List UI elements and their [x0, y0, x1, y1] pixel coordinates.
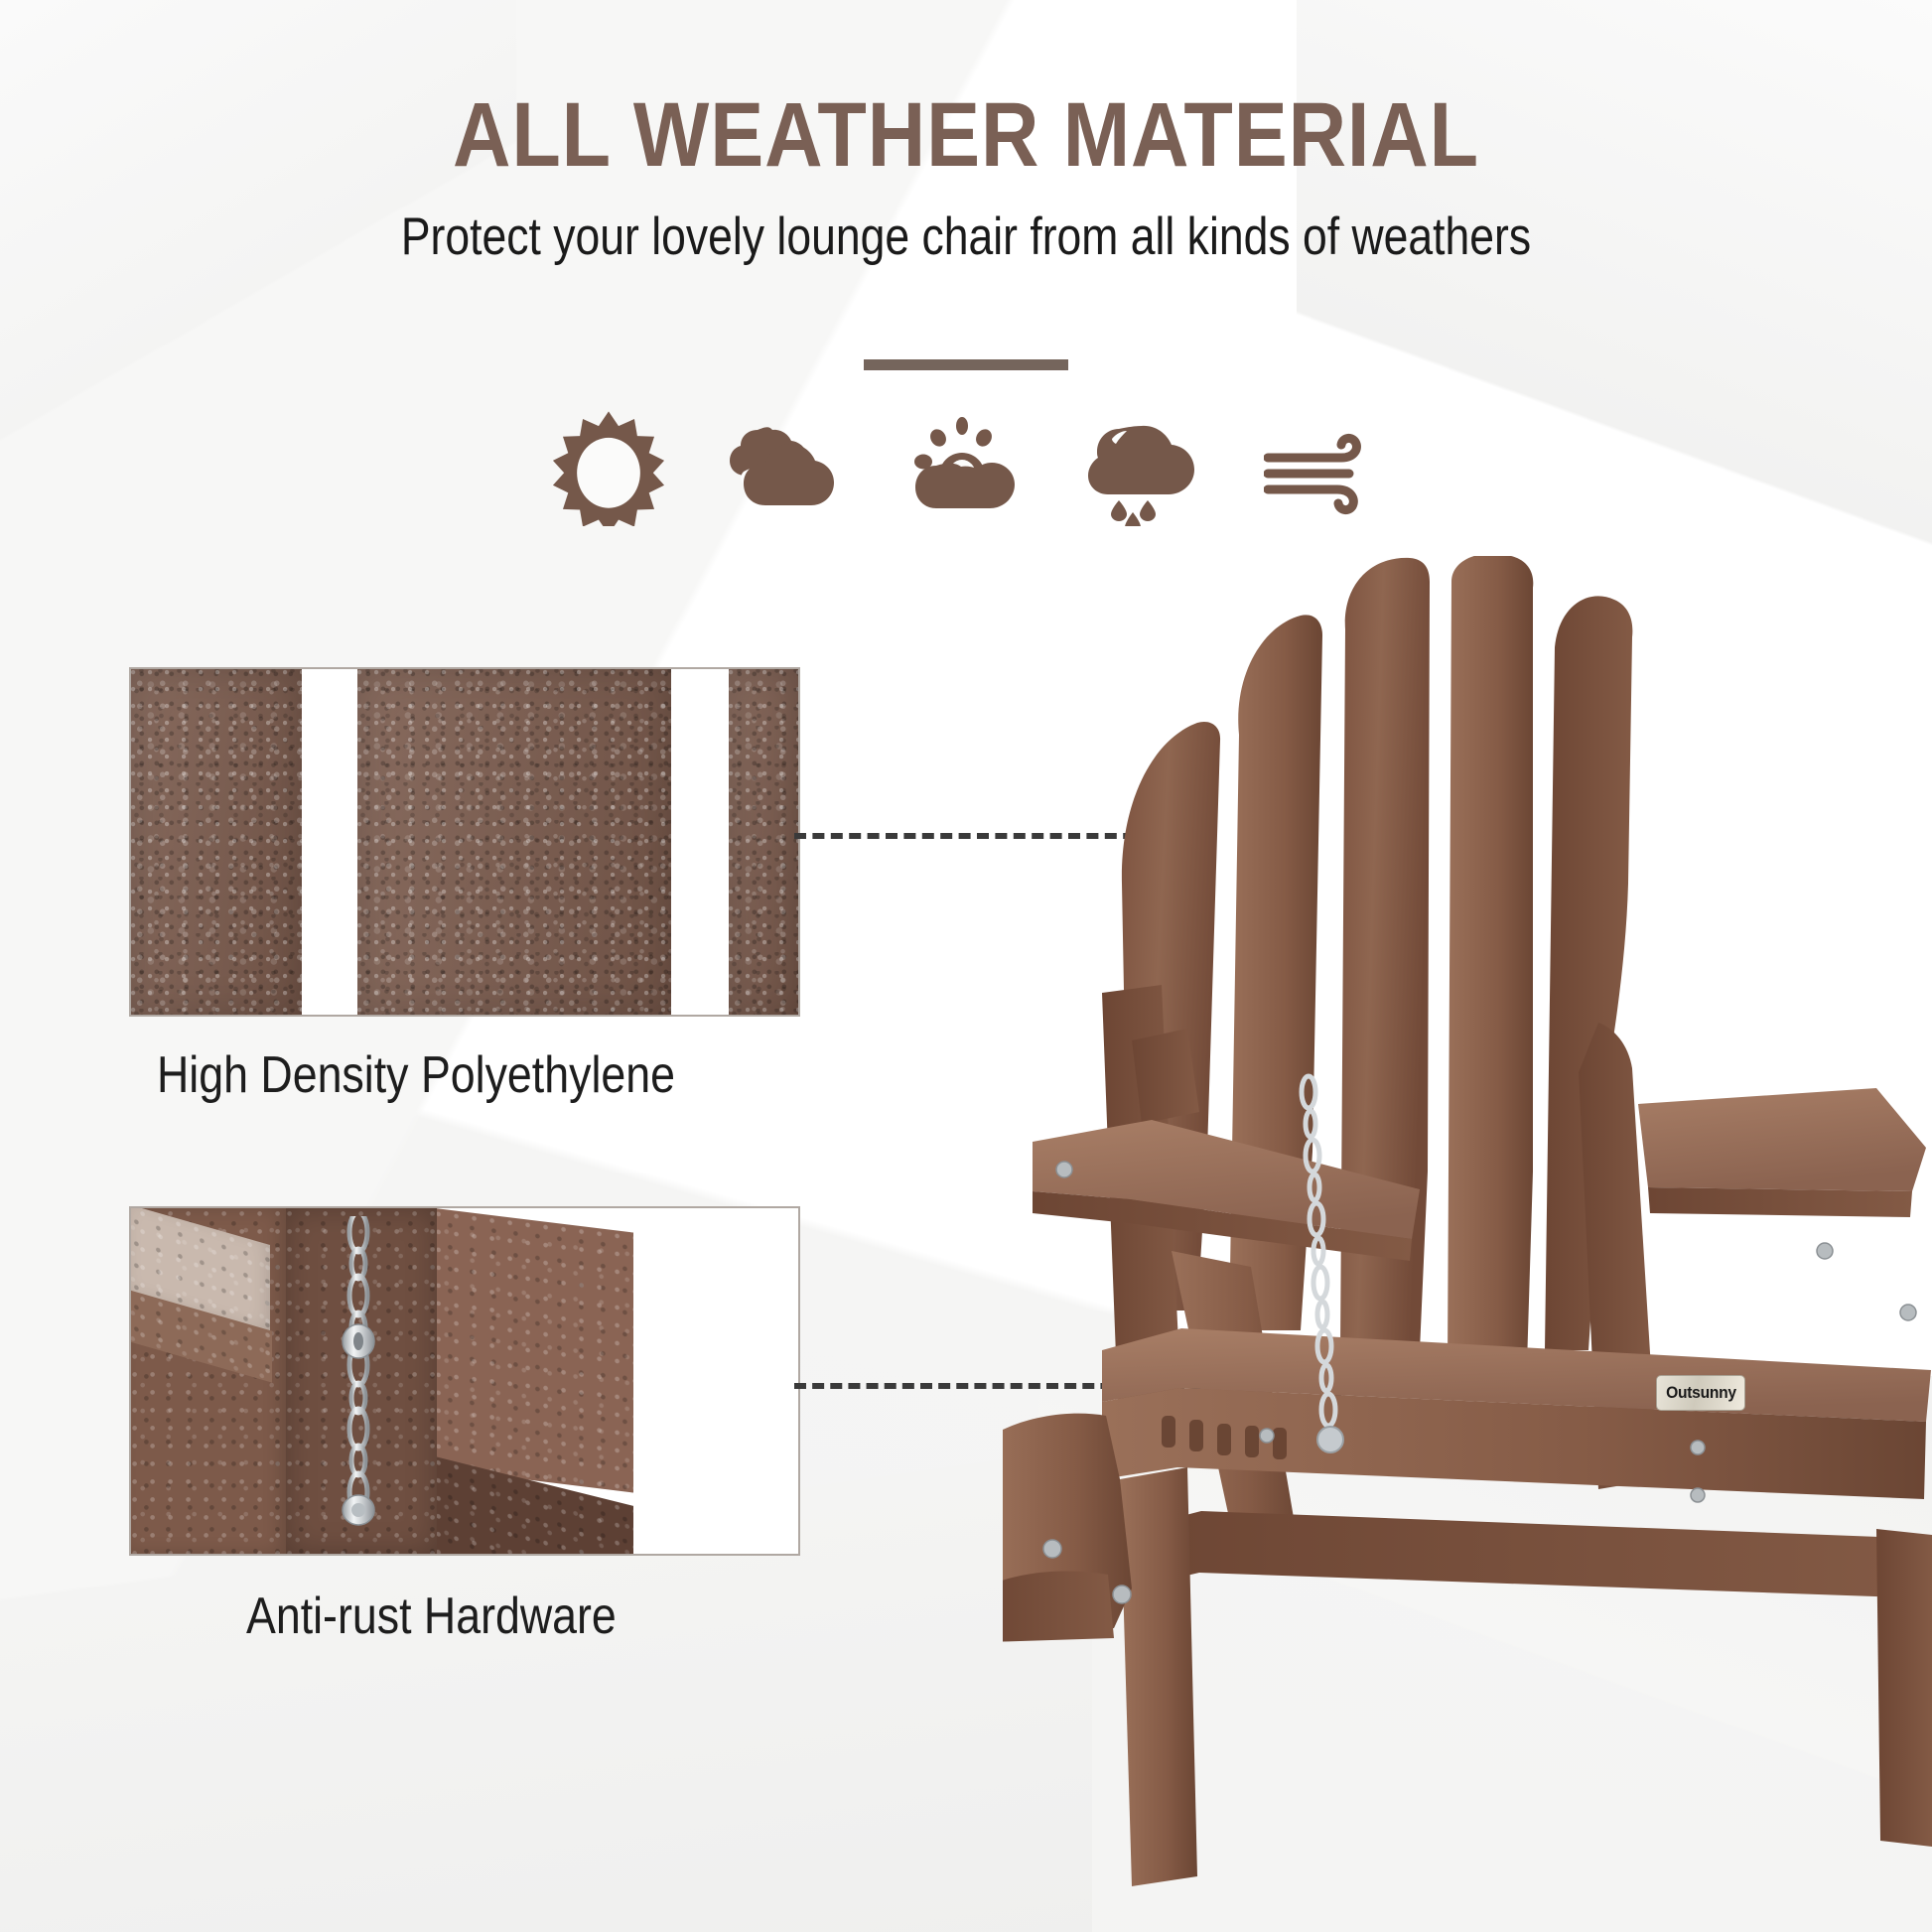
chair-stretcher-rail: [1132, 1511, 1931, 1598]
chair-armrest-right: [1638, 1088, 1926, 1191]
chair-chain-washer: [1317, 1427, 1343, 1452]
partly-cloudy-icon: [906, 409, 1026, 526]
hdpe-slat: [729, 669, 798, 1015]
rain-cloud-icon: [1085, 409, 1204, 526]
hardware-photo: [131, 1208, 798, 1554]
page-title: ALL WEATHER MATERIAL: [116, 0, 1816, 184]
brand-label: Outsunny: [1656, 1375, 1745, 1411]
chair-front-leg-right: [1876, 1529, 1932, 1847]
hdpe-slat: [131, 669, 302, 1015]
adirondack-chair-image: [1003, 556, 1932, 1886]
chair-arm-support-left: [1132, 1029, 1199, 1124]
header: ALL WEATHER MATERIAL Protect your lovely…: [0, 0, 1932, 268]
hdpe-texture-panel: [129, 667, 800, 1017]
hardware-wood-right: [435, 1208, 633, 1493]
anti-rust-chain: [342, 1216, 375, 1534]
hardware-caption: Anti-rust Hardware: [246, 1587, 617, 1646]
brand-label-text: Outsunny: [1666, 1383, 1736, 1403]
page-subtitle: Protect your lovely lounge chair from al…: [155, 184, 1778, 269]
hdpe-slat-group: [131, 669, 798, 1015]
sun-icon: [549, 409, 668, 526]
chair-bracket-base: [1003, 1571, 1114, 1642]
hdpe-caption: High Density Polyethylene: [157, 1045, 675, 1105]
hardware-closeup-panel: [129, 1206, 800, 1556]
hdpe-slat: [357, 669, 671, 1015]
product-feature-infographic: ALL WEATHER MATERIAL Protect your lovely…: [0, 0, 1932, 1932]
wind-icon: [1264, 409, 1383, 526]
weather-icon-row: [0, 409, 1932, 526]
chair-front-leg-left: [1120, 1467, 1197, 1886]
hdpe-slat-gap: [302, 669, 357, 1015]
title-divider: [864, 359, 1068, 370]
hdpe-slat-gap: [671, 669, 729, 1015]
cloudy-icon: [728, 409, 847, 526]
chair-armrest-right-edge: [1648, 1187, 1912, 1217]
